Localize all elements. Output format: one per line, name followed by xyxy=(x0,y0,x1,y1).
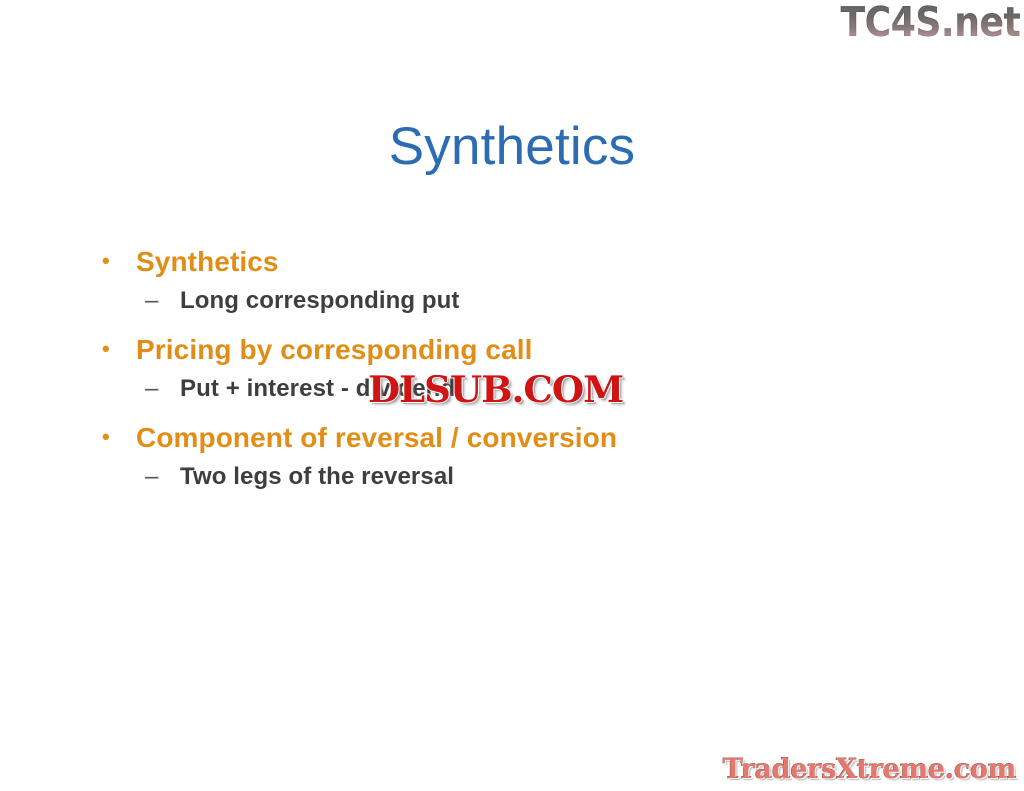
bullet-level1-text: Synthetics xyxy=(136,246,279,277)
slide-title: Synthetics xyxy=(0,118,1024,176)
tradersxtreme-watermark: TradersXtreme.com xyxy=(723,756,1016,783)
bullet-dot-icon: • xyxy=(102,243,110,278)
bullet-level1: • Pricing by corresponding call xyxy=(96,331,936,369)
dash-marker-icon: – xyxy=(145,285,158,317)
presentation-slide: TC4S.net Synthetics • Synthetics – Long … xyxy=(0,0,1024,791)
bullet-level1: • Synthetics xyxy=(96,243,936,281)
bullet-level2: – Long corresponding put xyxy=(96,285,936,317)
bullet-level1: • Component of reversal / conversion xyxy=(96,419,936,457)
bullet-level2-text: Two legs of the reversal xyxy=(180,463,454,490)
bullet-group: • Synthetics – Long corresponding put xyxy=(96,243,936,317)
dash-marker-icon: – xyxy=(145,373,158,405)
bullet-level2: – Two legs of the reversal xyxy=(96,461,936,493)
tc4s-logo: TC4S.net xyxy=(840,2,1020,43)
dlsub-watermark: DLSUB.COM xyxy=(368,372,623,408)
bullet-dot-icon: • xyxy=(102,419,110,454)
bullet-group: • Component of reversal / conversion – T… xyxy=(96,419,936,493)
dash-marker-icon: – xyxy=(145,461,158,493)
bullet-level2-text: Long corresponding put xyxy=(180,287,460,314)
bullet-level1-text: Component of reversal / conversion xyxy=(136,422,617,453)
bullet-level1-text: Pricing by corresponding call xyxy=(136,334,533,365)
bullet-dot-icon: • xyxy=(102,331,110,366)
